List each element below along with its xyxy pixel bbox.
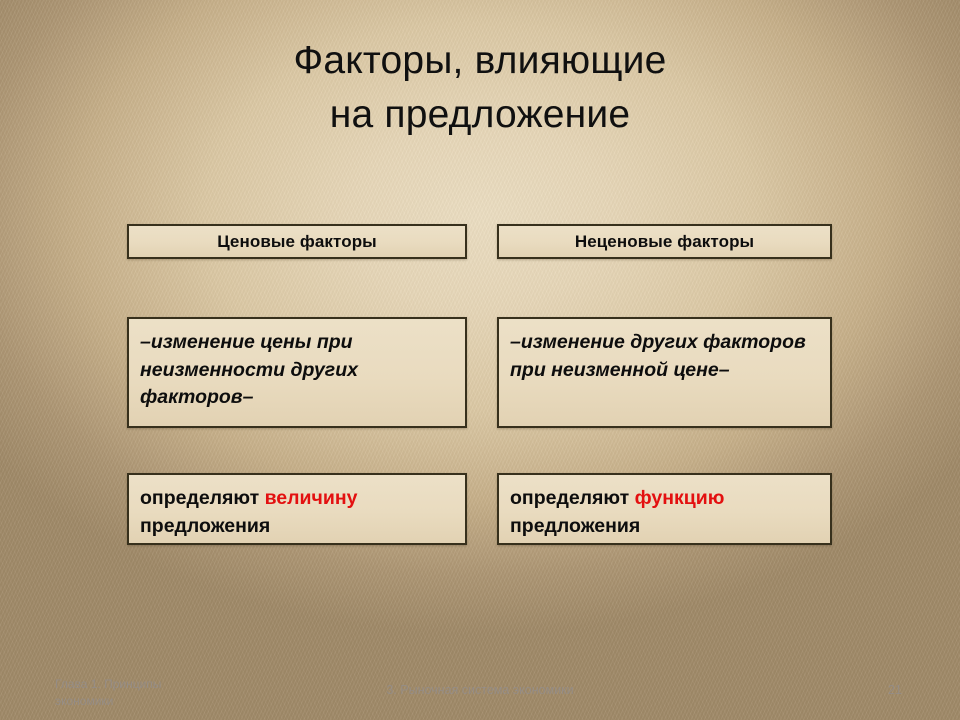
right-column-conclusion-suffix: предложения [510, 515, 640, 537]
right-column-conclusion-prefix: определяют [510, 487, 635, 509]
left-column-conclusion-suffix: предложения [140, 515, 270, 537]
page-title-line-1: Факторы, влияющие [80, 34, 880, 88]
right-column-conclusion-box: определяют функцию предложения [497, 473, 832, 545]
left-column-header-label: Ценовые факторы [217, 232, 377, 252]
footer-chapter-label: Глава 1. Принципы экономики [55, 676, 215, 711]
footer-page-number: 21 [860, 681, 930, 699]
left-column-conclusion-box: определяют величину предложения [127, 473, 467, 545]
right-column-definition-box: –изменение других факторов при неизменно… [497, 317, 832, 428]
page-title: Факторы, влияющие на предложение [80, 34, 880, 142]
left-column-conclusion-prefix: определяют [140, 487, 265, 509]
slide-canvas: Факторы, влияющие на предложение Ценовые… [0, 0, 960, 720]
page-title-line-2: на предложение [80, 88, 880, 142]
right-column-header-box: Неценовые факторы [497, 224, 832, 259]
left-column-definition-text: –изменение цены при неизменности других … [140, 331, 358, 408]
right-column-conclusion-highlight: функцию [635, 487, 725, 509]
left-column-header-box: Ценовые факторы [127, 224, 467, 259]
footer-section-label: 3. Рыночная система экономики [280, 681, 680, 699]
left-column-definition-box: –изменение цены при неизменности других … [127, 317, 467, 428]
right-column-header-label: Неценовые факторы [575, 232, 754, 252]
left-column-conclusion-highlight: величину [265, 487, 358, 509]
right-column-definition-text: –изменение других факторов при неизменно… [510, 331, 806, 381]
